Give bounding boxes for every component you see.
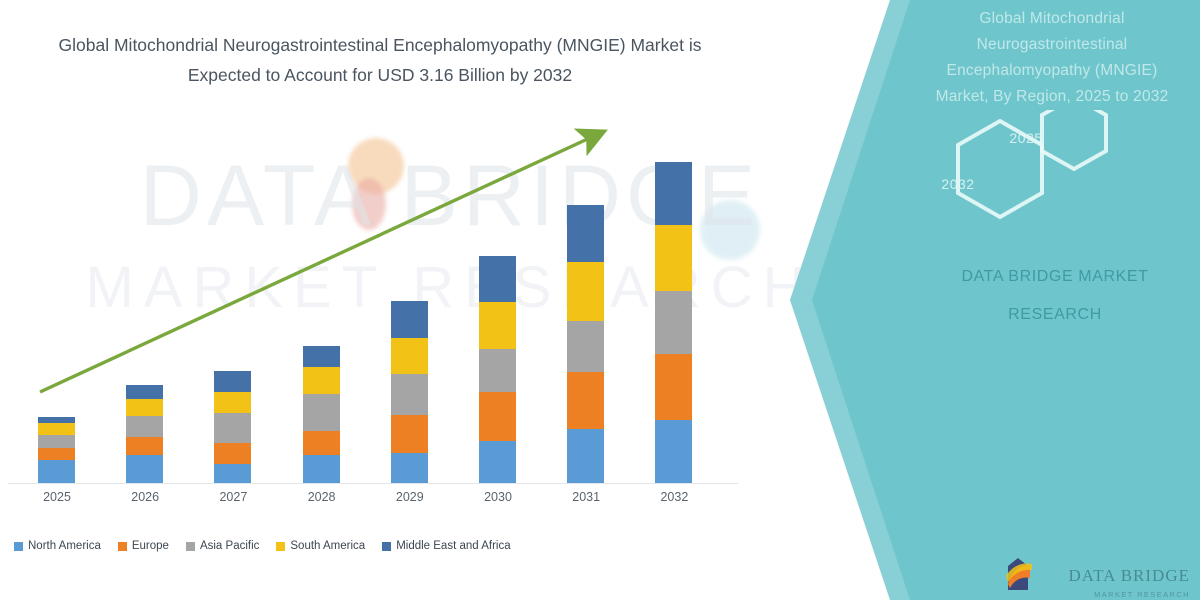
x-axis-line <box>8 483 738 484</box>
legend-item-europe[interactable]: Europe <box>118 540 169 552</box>
bar-segment-south-america-2028[interactable] <box>303 367 340 393</box>
bar-segment-middle-east-and-africa-2027[interactable] <box>214 371 251 391</box>
infographic-canvas: DATA BRIDGE MARKET RESEARCH Global Mitoc… <box>0 0 1200 600</box>
bar-segment-south-america-2027[interactable] <box>214 392 251 413</box>
legend-label: Middle East and Africa <box>396 540 510 552</box>
panel-brand-line-1: DATA BRIDGE MARKET <box>930 268 1180 286</box>
legend-label: North America <box>28 540 101 552</box>
bar-segment-europe-2028[interactable] <box>303 431 340 454</box>
bar-segment-asia-pacific-2028[interactable] <box>303 394 340 432</box>
legend-label: South America <box>290 540 365 552</box>
hexagon-label-start-year: 2025 <box>976 130 1076 146</box>
bar-2028[interactable] <box>303 346 340 483</box>
x-tick-2027: 2027 <box>203 490 263 504</box>
bar-segment-south-america-2032[interactable] <box>655 225 692 291</box>
bar-segment-europe-2027[interactable] <box>214 443 251 463</box>
bar-segment-middle-east-and-africa-2031[interactable] <box>567 205 604 262</box>
x-tick-2028: 2028 <box>292 490 352 504</box>
legend-swatch <box>276 542 285 551</box>
right-teal-panel: Global Mitochondrial Neurogastrointestin… <box>760 0 1200 600</box>
bar-segment-south-america-2030[interactable] <box>479 302 516 349</box>
legend-swatch <box>14 542 23 551</box>
bar-segment-asia-pacific-2032[interactable] <box>655 291 692 354</box>
x-tick-2030: 2030 <box>468 490 528 504</box>
bar-segment-north-america-2028[interactable] <box>303 455 340 483</box>
chart-legend: North AmericaEuropeAsia PacificSouth Ame… <box>14 540 754 552</box>
bar-segment-asia-pacific-2031[interactable] <box>567 321 604 373</box>
bar-segment-north-america-2030[interactable] <box>479 441 516 483</box>
bar-segment-europe-2025[interactable] <box>38 448 75 460</box>
bar-segment-asia-pacific-2027[interactable] <box>214 413 251 443</box>
bar-segment-middle-east-and-africa-2032[interactable] <box>655 162 692 225</box>
bar-2026[interactable] <box>126 385 163 483</box>
bar-segment-north-america-2032[interactable] <box>655 420 692 483</box>
bar-2031[interactable] <box>567 205 604 483</box>
bar-segment-south-america-2031[interactable] <box>567 262 604 321</box>
bar-2032[interactable] <box>655 162 692 483</box>
bar-segment-north-america-2025[interactable] <box>38 460 75 483</box>
x-tick-2025: 2025 <box>27 490 87 504</box>
x-tick-2032: 2032 <box>644 490 704 504</box>
legend-label: Asia Pacific <box>200 540 259 552</box>
bar-segment-europe-2030[interactable] <box>479 392 516 442</box>
hexagon-group: 2032 2025 <box>890 110 1190 240</box>
bar-segment-middle-east-and-africa-2028[interactable] <box>303 346 340 367</box>
hexagon-label-end-year: 2032 <box>908 176 1008 192</box>
legend-item-north-america[interactable]: North America <box>14 540 101 552</box>
x-tick-2031: 2031 <box>556 490 616 504</box>
chart-title: Global Mitochondrial Neurogastrointestin… <box>40 30 720 90</box>
bar-segment-middle-east-and-africa-2030[interactable] <box>479 256 516 303</box>
legend-swatch <box>186 542 195 551</box>
x-tick-2029: 2029 <box>380 490 440 504</box>
panel-brand-line-2: RESEARCH <box>930 306 1180 324</box>
bar-segment-middle-east-and-africa-2026[interactable] <box>126 385 163 399</box>
panel-title: Global Mitochondrial Neurogastrointestin… <box>918 6 1186 110</box>
bar-segment-south-america-2026[interactable] <box>126 399 163 416</box>
bar-segment-asia-pacific-2029[interactable] <box>391 374 428 415</box>
company-logo-text: DATA BRIDGE <box>1068 566 1190 586</box>
legend-item-south-america[interactable]: South America <box>276 540 365 552</box>
bar-segment-asia-pacific-2026[interactable] <box>126 416 163 437</box>
bar-segment-north-america-2031[interactable] <box>567 429 604 483</box>
legend-swatch <box>118 542 127 551</box>
bar-segment-north-america-2026[interactable] <box>126 455 163 483</box>
bar-segment-middle-east-and-africa-2029[interactable] <box>391 301 428 338</box>
bar-segment-asia-pacific-2025[interactable] <box>38 435 75 447</box>
bar-2027[interactable] <box>214 371 251 483</box>
legend-label: Europe <box>132 540 169 552</box>
bar-segment-north-america-2027[interactable] <box>214 464 251 483</box>
bar-segment-north-america-2029[interactable] <box>391 453 428 483</box>
bar-segment-europe-2029[interactable] <box>391 415 428 453</box>
bar-2025[interactable] <box>38 417 75 483</box>
x-tick-2026: 2026 <box>115 490 175 504</box>
chart-area: Global Mitochondrial Neurogastrointestin… <box>0 0 780 600</box>
bar-segment-asia-pacific-2030[interactable] <box>479 349 516 392</box>
bar-segment-europe-2026[interactable] <box>126 437 163 454</box>
bar-segment-south-america-2029[interactable] <box>391 338 428 375</box>
legend-item-middle-east-and-africa[interactable]: Middle East and Africa <box>382 540 510 552</box>
legend-item-asia-pacific[interactable]: Asia Pacific <box>186 540 259 552</box>
bar-segment-europe-2031[interactable] <box>567 372 604 429</box>
legend-swatch <box>382 542 391 551</box>
bar-2029[interactable] <box>391 301 428 483</box>
bar-2030[interactable] <box>479 256 516 483</box>
company-logo-tagline: MARKET RESEARCH <box>1094 590 1190 599</box>
bar-segment-europe-2032[interactable] <box>655 354 692 420</box>
bar-segment-south-america-2025[interactable] <box>38 423 75 435</box>
